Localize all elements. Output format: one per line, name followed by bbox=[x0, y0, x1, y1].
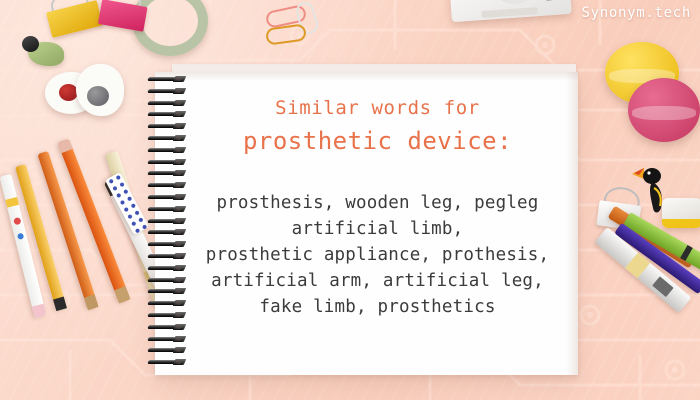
spiral-ring bbox=[146, 170, 186, 177]
spiral-ring bbox=[146, 111, 186, 118]
spiral-ring bbox=[146, 277, 186, 284]
page-headword: prosthetic device: bbox=[190, 124, 565, 158]
spiral-ring bbox=[146, 241, 186, 248]
spiral-ring bbox=[146, 324, 186, 331]
spiral-ring bbox=[146, 159, 186, 166]
spiral-ring bbox=[146, 218, 186, 225]
page-kicker: Similar words for bbox=[190, 95, 565, 121]
spiral-ring bbox=[146, 100, 186, 107]
page-right-edge-shading bbox=[566, 72, 578, 375]
spiral-ring bbox=[146, 206, 186, 213]
page-content: Similar words for prosthetic device: pro… bbox=[190, 95, 565, 320]
macaron-pink bbox=[628, 78, 700, 142]
spiral-ring bbox=[146, 182, 186, 189]
spiral-ring bbox=[146, 265, 186, 272]
spiral-ring bbox=[146, 88, 186, 95]
synonym-line: fake limb, prosthetics bbox=[190, 294, 565, 320]
spiral-ring bbox=[146, 229, 186, 236]
bird-figurine bbox=[22, 36, 64, 66]
glue-stick-white bbox=[662, 198, 700, 228]
page-top-shading bbox=[155, 72, 578, 81]
synonym-list: prosthesis, wooden leg, peglegartificial… bbox=[190, 190, 565, 320]
synonym-line: artificial limb, bbox=[190, 216, 565, 242]
spiral-binding bbox=[146, 76, 188, 372]
site-watermark: Synonym.tech bbox=[581, 5, 691, 21]
spiral-ring bbox=[146, 300, 186, 307]
screenshot-root: Similar words for prosthetic device: pro… bbox=[0, 0, 700, 400]
spiral-ring bbox=[146, 347, 186, 354]
spiral-ring bbox=[146, 336, 186, 343]
synonym-line: prosthetic appliance, prothesis, bbox=[190, 242, 565, 268]
synonym-line: prosthesis, wooden leg, pegleg bbox=[190, 190, 565, 216]
spiral-ring bbox=[146, 359, 186, 366]
synonym-line: artificial arm, artificial leg, bbox=[190, 268, 565, 294]
spiral-ring bbox=[146, 147, 186, 154]
spiral-ring bbox=[146, 194, 186, 201]
spiral-ring bbox=[146, 76, 186, 83]
spiral-ring bbox=[146, 123, 186, 130]
spiral-ring bbox=[146, 135, 186, 142]
spiral-ring bbox=[146, 312, 186, 319]
spiral-ring bbox=[146, 253, 186, 260]
eraser-right bbox=[76, 64, 124, 116]
spiral-ring bbox=[146, 288, 186, 295]
